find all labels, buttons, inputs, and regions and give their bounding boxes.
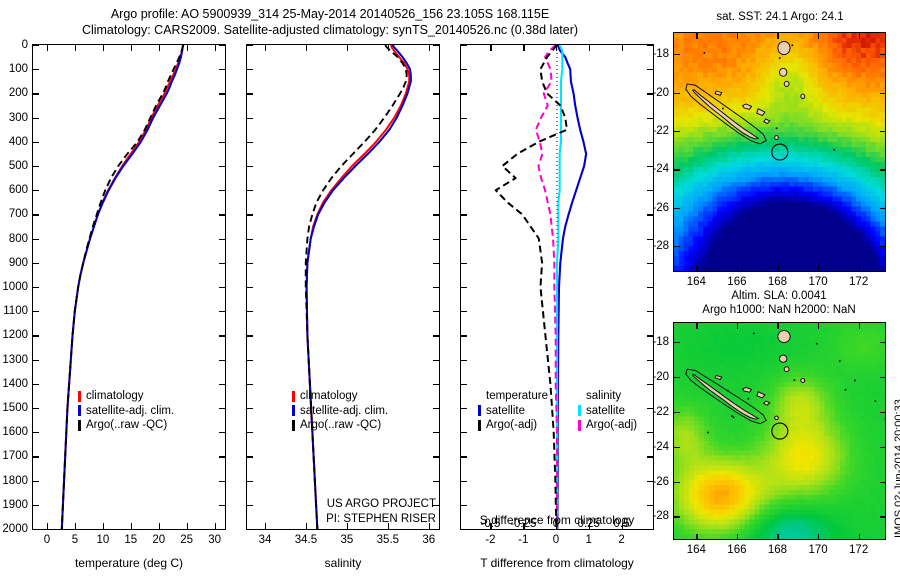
value-tick: [347, 45, 348, 51]
depth-tick: [247, 481, 253, 482]
t-value-tick: [490, 45, 491, 51]
sst-map-image: [674, 33, 885, 271]
depth-tick: [247, 408, 253, 409]
depth-tick: [247, 360, 253, 361]
title-line-2: Climatology: CARS2009. Satellite-adjuste…: [0, 22, 660, 38]
depth-tick: [647, 311, 653, 312]
lat-tick: [674, 377, 680, 378]
lat-tick: [674, 246, 680, 247]
depth-tick: [433, 69, 439, 70]
depth-tick: [219, 408, 225, 409]
depth-tick: [433, 45, 439, 46]
value-tick: [215, 523, 216, 529]
depth-tick: [461, 166, 467, 167]
depth-tick: [647, 45, 653, 46]
legend-item-satellite-adj-clim: satellite-adj. clim.: [292, 404, 388, 419]
value-tick-label: 35: [341, 534, 354, 546]
depth-tick: [461, 505, 467, 506]
swatch-temp-satellite-icon: [478, 405, 481, 416]
depth-tick-label: 1500: [0, 402, 28, 414]
swatch-climatology-icon: [292, 391, 295, 402]
lat-tick-label: -22: [643, 125, 669, 137]
value-tick: [187, 45, 188, 51]
depth-tick: [247, 166, 253, 167]
lat-tick: [880, 54, 886, 55]
depth-tick: [433, 287, 439, 288]
salinity-xaxis-title: salinity: [325, 556, 362, 570]
depth-tick: [433, 456, 439, 457]
figure-root: Argo profile: AO 5900939_314 25-May-2014…: [0, 0, 900, 580]
depth-tick: [247, 456, 253, 457]
salinity-panel: [246, 44, 440, 530]
value-tick-label: 36: [422, 534, 435, 546]
lat-tick: [880, 412, 886, 413]
lat-tick-label: -20: [643, 371, 669, 383]
depth-tick: [33, 481, 39, 482]
legend-item-climatology: climatology: [78, 389, 174, 404]
lon-tick-label: 166: [727, 544, 746, 556]
depth-tick: [647, 118, 653, 119]
value-tick: [306, 45, 307, 51]
depth-tick: [247, 118, 253, 119]
lon-tick: [859, 534, 860, 540]
t-value-tick: [589, 45, 590, 51]
depth-tick: [461, 311, 467, 312]
lon-tick-label: 168: [768, 276, 787, 288]
legend-heading-salinity: salinity: [578, 389, 637, 404]
depth-tick-label: 900: [0, 257, 28, 269]
swatch-climatology-icon: [78, 391, 81, 402]
value-tick-label: 15: [124, 534, 137, 546]
depth-tick: [433, 408, 439, 409]
depth-tick: [247, 335, 253, 336]
legend-item-climatology: climatology: [292, 389, 388, 404]
lat-tick: [674, 447, 680, 448]
depth-tick-label: 600: [0, 184, 28, 196]
lat-tick-label: -22: [643, 406, 669, 418]
temperature-xaxis-title: temperature (deg C): [75, 556, 183, 570]
depth-tick: [219, 45, 225, 46]
lon-tick-label: 166: [727, 276, 746, 288]
value-tick: [187, 523, 188, 529]
value-tick: [265, 45, 266, 51]
lon-tick: [777, 33, 778, 39]
depth-tick: [461, 239, 467, 240]
depth-tick: [433, 335, 439, 336]
lon-tick-label: 170: [808, 276, 827, 288]
value-tick: [75, 45, 76, 51]
depth-tick: [247, 432, 253, 433]
depth-tick: [33, 456, 39, 457]
lon-tick: [737, 266, 738, 272]
t-tick-label: -2: [485, 534, 495, 546]
depth-tick: [33, 287, 39, 288]
depth-tick: [647, 69, 653, 70]
depth-tick: [461, 456, 467, 457]
legend-label: satellite: [486, 404, 525, 419]
legend-label: Argo(-adj): [586, 418, 637, 433]
depth-tick-label: 2000: [0, 523, 28, 535]
depth-tick: [433, 432, 439, 433]
depth-tick: [33, 432, 39, 433]
lon-tick: [777, 266, 778, 272]
value-tick: [47, 523, 48, 529]
depth-tick: [647, 384, 653, 385]
depth-tick-label: 1200: [0, 329, 28, 341]
lon-tick: [818, 534, 819, 540]
depth-tick: [219, 214, 225, 215]
sla-caption-line-2: Argo h1000: NaN h2000: NaN: [702, 303, 855, 317]
lat-tick: [880, 246, 886, 247]
lon-tick-label: 172: [849, 544, 868, 556]
depth-tick-label: 1400: [0, 378, 28, 390]
depth-tick-label: 1000: [0, 281, 28, 293]
lon-tick: [696, 266, 697, 272]
depth-tick-label: 1900: [0, 499, 28, 511]
salinity-plot-area: [247, 45, 439, 529]
lat-tick: [674, 516, 680, 517]
lon-tick: [737, 534, 738, 540]
imos-timestamp: IMOS 02-Jun-2014 20:00:33: [893, 399, 900, 538]
depth-tick: [247, 93, 253, 94]
lon-tick: [818, 33, 819, 39]
depth-tick: [647, 142, 653, 143]
depth-tick: [247, 263, 253, 264]
value-tick-label: 34.5: [295, 534, 317, 546]
lat-tick: [674, 131, 680, 132]
depth-tick-label: 0: [0, 39, 28, 51]
depth-tick: [647, 456, 653, 457]
legend-heading-temperature: temperature: [478, 389, 548, 404]
depth-tick: [647, 190, 653, 191]
value-tick-label: 10: [96, 534, 109, 546]
lat-tick: [880, 482, 886, 483]
depth-tick: [247, 384, 253, 385]
depth-tick: [219, 166, 225, 167]
lat-tick: [674, 342, 680, 343]
sst-map-title: sat. SST: 24.1 Argo: 24.1: [664, 10, 896, 24]
legend-item-argo-raw: Argo(..raw -QC): [78, 418, 174, 433]
swatch-satellite-adj-icon: [78, 405, 81, 416]
lat-tick: [880, 169, 886, 170]
depth-tick: [461, 263, 467, 264]
value-tick: [75, 523, 76, 529]
lat-tick-label: -24: [643, 441, 669, 453]
lat-tick-label: -26: [643, 476, 669, 488]
depth-tick-label: 1300: [0, 354, 28, 366]
value-tick-label: 0: [44, 534, 50, 546]
depth-tick: [461, 45, 467, 46]
depth-tick: [433, 214, 439, 215]
depth-tick: [219, 384, 225, 385]
value-tick: [159, 523, 160, 529]
lon-tick: [818, 323, 819, 329]
depth-tick: [247, 505, 253, 506]
depth-tick-label: 500: [0, 160, 28, 172]
temperature-panel: [32, 44, 226, 530]
sla-map-caption: Altim. SLA: 0.0041 Argo h1000: NaN h2000…: [702, 289, 855, 317]
t-value-tick: [556, 45, 557, 51]
depth-tick: [219, 69, 225, 70]
lon-tick: [737, 323, 738, 329]
lat-tick: [674, 93, 680, 94]
t-tick-label: -1: [518, 534, 528, 546]
swatch-sal-satellite-icon: [578, 405, 581, 416]
depth-tick-label: 800: [0, 233, 28, 245]
lon-tick-label: 164: [687, 276, 706, 288]
credit-line-2: PI: STEPHEN RISER: [300, 512, 436, 527]
lon-tick-label: 170: [808, 544, 827, 556]
depth-tick: [461, 287, 467, 288]
depth-tick: [247, 529, 253, 530]
t-tick-label: 2: [618, 534, 624, 546]
t-tick-label: 1: [586, 534, 592, 546]
temperature-plot-area: [33, 45, 225, 529]
depth-tick: [219, 335, 225, 336]
sst-map-title-wrap: sat. SST: 24.1 Argo: 24.1: [664, 10, 896, 24]
depth-tick: [33, 384, 39, 385]
salinity-legend: climatology satellite-adj. clim. Argo(..…: [292, 389, 388, 433]
depth-tick: [219, 505, 225, 506]
depth-tick: [219, 93, 225, 94]
value-tick: [429, 45, 430, 51]
depth-tick: [433, 481, 439, 482]
legend-item-argo-raw: Argo(..raw -QC): [292, 418, 388, 433]
depth-tick: [247, 69, 253, 70]
difference-legend-temperature: temperature satellite Argo(-adj): [478, 389, 548, 433]
lat-tick: [674, 412, 680, 413]
swatch-satellite-adj-icon: [292, 405, 295, 416]
lat-tick-label: -24: [643, 163, 669, 175]
depth-tick: [647, 432, 653, 433]
depth-tick: [33, 142, 39, 143]
value-tick: [47, 45, 48, 51]
lat-tick-label: -20: [643, 87, 669, 99]
depth-tick: [461, 481, 467, 482]
depth-tick: [33, 214, 39, 215]
depth-tick: [647, 287, 653, 288]
lat-tick: [880, 131, 886, 132]
depth-tick: [247, 142, 253, 143]
depth-tick: [461, 118, 467, 119]
depth-tick: [433, 166, 439, 167]
lat-tick: [880, 342, 886, 343]
lat-tick: [880, 377, 886, 378]
depth-tick: [247, 311, 253, 312]
depth-tick: [219, 287, 225, 288]
depth-tick: [461, 142, 467, 143]
depth-tick: [247, 287, 253, 288]
lat-tick-label: -18: [643, 336, 669, 348]
depth-tick: [647, 360, 653, 361]
credit-line-1: US ARGO PROJECT: [300, 497, 436, 512]
legend-item-salinity-argo: Argo(-adj): [578, 418, 637, 433]
depth-tick: [219, 311, 225, 312]
figure-title: Argo profile: AO 5900939_314 25-May-2014…: [0, 6, 660, 38]
swatch-argo-raw-icon: [78, 420, 81, 431]
lon-tick: [777, 323, 778, 329]
sla-map-panel: [673, 322, 886, 540]
depth-tick: [433, 384, 439, 385]
difference-legend-salinity: salinity satellite Argo(-adj): [578, 389, 637, 433]
sla-caption-line-1: Altim. SLA: 0.0041: [702, 289, 855, 303]
depth-tick: [219, 142, 225, 143]
depth-tick-label: 700: [0, 208, 28, 220]
project-credit: US ARGO PROJECT PI: STEPHEN RISER: [300, 497, 436, 526]
value-tick: [103, 45, 104, 51]
legend-label: satellite: [586, 404, 625, 419]
lat-tick: [674, 169, 680, 170]
depth-tick-label: 1100: [0, 305, 28, 317]
lon-tick: [777, 534, 778, 540]
depth-tick: [461, 214, 467, 215]
lon-tick: [737, 33, 738, 39]
lat-tick: [674, 208, 680, 209]
lon-tick: [859, 33, 860, 39]
depth-tick-label: 400: [0, 136, 28, 148]
depth-tick: [33, 93, 39, 94]
depth-tick: [461, 335, 467, 336]
value-tick: [103, 523, 104, 529]
legend-label: Argo(-adj): [486, 418, 537, 433]
lat-tick: [880, 208, 886, 209]
depth-tick: [433, 263, 439, 264]
depth-tick: [433, 529, 439, 530]
lon-tick: [859, 266, 860, 272]
depth-tick: [461, 190, 467, 191]
t-tick-label: 0: [553, 534, 559, 546]
difference-plot-area: [461, 45, 653, 529]
depth-tick: [433, 190, 439, 191]
depth-tick: [219, 481, 225, 482]
depth-tick: [33, 335, 39, 336]
depth-tick: [433, 118, 439, 119]
depth-tick: [461, 69, 467, 70]
lat-tick: [880, 516, 886, 517]
depth-tick: [461, 360, 467, 361]
legend-item-temperature-argo: Argo(-adj): [478, 418, 548, 433]
depth-tick: [33, 311, 39, 312]
sla-map-image: [674, 323, 885, 539]
depth-tick: [33, 505, 39, 506]
lat-tick: [674, 482, 680, 483]
depth-tick: [33, 166, 39, 167]
lon-tick-label: 172: [849, 276, 868, 288]
depth-tick: [647, 529, 653, 530]
depth-tick-label: 100: [0, 63, 28, 75]
depth-tick: [219, 360, 225, 361]
lat-tick: [880, 447, 886, 448]
depth-tick: [433, 360, 439, 361]
value-tick: [215, 45, 216, 51]
value-tick: [131, 523, 132, 529]
legend-label: Argo(..raw -QC): [86, 418, 167, 433]
lat-tick-label: -18: [643, 48, 669, 60]
title-line-1: Argo profile: AO 5900939_314 25-May-2014…: [0, 6, 660, 22]
value-tick-label: 30: [208, 534, 221, 546]
lat-tick: [880, 93, 886, 94]
depth-tick-label: 300: [0, 112, 28, 124]
legend-label: climatology: [300, 389, 358, 404]
depth-tick: [247, 190, 253, 191]
lon-tick: [859, 323, 860, 329]
legend-label: satellite-adj. clim.: [86, 404, 174, 419]
lat-tick-label: -28: [643, 240, 669, 252]
legend-item-satellite-adj-clim: satellite-adj. clim.: [78, 404, 174, 419]
depth-tick: [461, 93, 467, 94]
depth-tick: [433, 239, 439, 240]
depth-tick: [647, 505, 653, 506]
depth-tick: [647, 263, 653, 264]
depth-tick-label: 200: [0, 87, 28, 99]
depth-tick: [433, 311, 439, 312]
depth-tick: [219, 118, 225, 119]
swatch-argo-raw-icon: [292, 420, 295, 431]
lat-tick: [674, 54, 680, 55]
t-value-tick: [622, 45, 623, 51]
lon-tick: [696, 33, 697, 39]
swatch-temp-argo-icon: [478, 420, 481, 431]
depth-tick: [33, 408, 39, 409]
lat-tick-label: -26: [643, 202, 669, 214]
depth-tick: [33, 69, 39, 70]
legend-label: satellite-adj. clim.: [300, 404, 388, 419]
depth-tick: [461, 529, 467, 530]
value-tick: [265, 523, 266, 529]
depth-tick-label: 1700: [0, 450, 28, 462]
depth-tick: [33, 360, 39, 361]
legend-item-temperature-satellite: satellite: [478, 404, 548, 419]
legend-label: Argo(..raw -QC): [300, 418, 381, 433]
sst-map-panel: [673, 32, 886, 272]
lon-tick: [818, 266, 819, 272]
lon-tick-label: 168: [768, 544, 787, 556]
lon-tick: [696, 323, 697, 329]
depth-tick: [33, 118, 39, 119]
value-tick: [388, 45, 389, 51]
depth-tick: [461, 408, 467, 409]
swatch-sal-argo-icon: [578, 420, 581, 431]
depth-tick: [219, 263, 225, 264]
depth-tick: [433, 142, 439, 143]
depth-tick: [247, 214, 253, 215]
difference-panel: [460, 44, 654, 530]
depth-tick: [461, 384, 467, 385]
depth-tick: [433, 93, 439, 94]
depth-tick: [33, 239, 39, 240]
depth-tick: [219, 190, 225, 191]
depth-tick: [33, 529, 39, 530]
depth-tick: [247, 239, 253, 240]
value-tick-label: 35.5: [377, 534, 399, 546]
depth-tick: [647, 214, 653, 215]
depth-tick: [219, 239, 225, 240]
depth-tick: [219, 432, 225, 433]
value-tick-label: 20: [152, 534, 165, 546]
depth-tick: [461, 432, 467, 433]
difference-temperature-axis-title: T difference from climatology: [480, 556, 634, 570]
lat-tick-label: -28: [643, 510, 669, 522]
value-tick-label: 25: [180, 534, 193, 546]
value-tick: [159, 45, 160, 51]
value-tick: [131, 45, 132, 51]
depth-tick: [33, 190, 39, 191]
depth-tick: [219, 456, 225, 457]
difference-salinity-axis-title: S difference from climatology: [480, 513, 635, 527]
depth-tick-label: 1800: [0, 475, 28, 487]
t-value-tick: [523, 45, 524, 51]
depth-tick-label: 1600: [0, 426, 28, 438]
